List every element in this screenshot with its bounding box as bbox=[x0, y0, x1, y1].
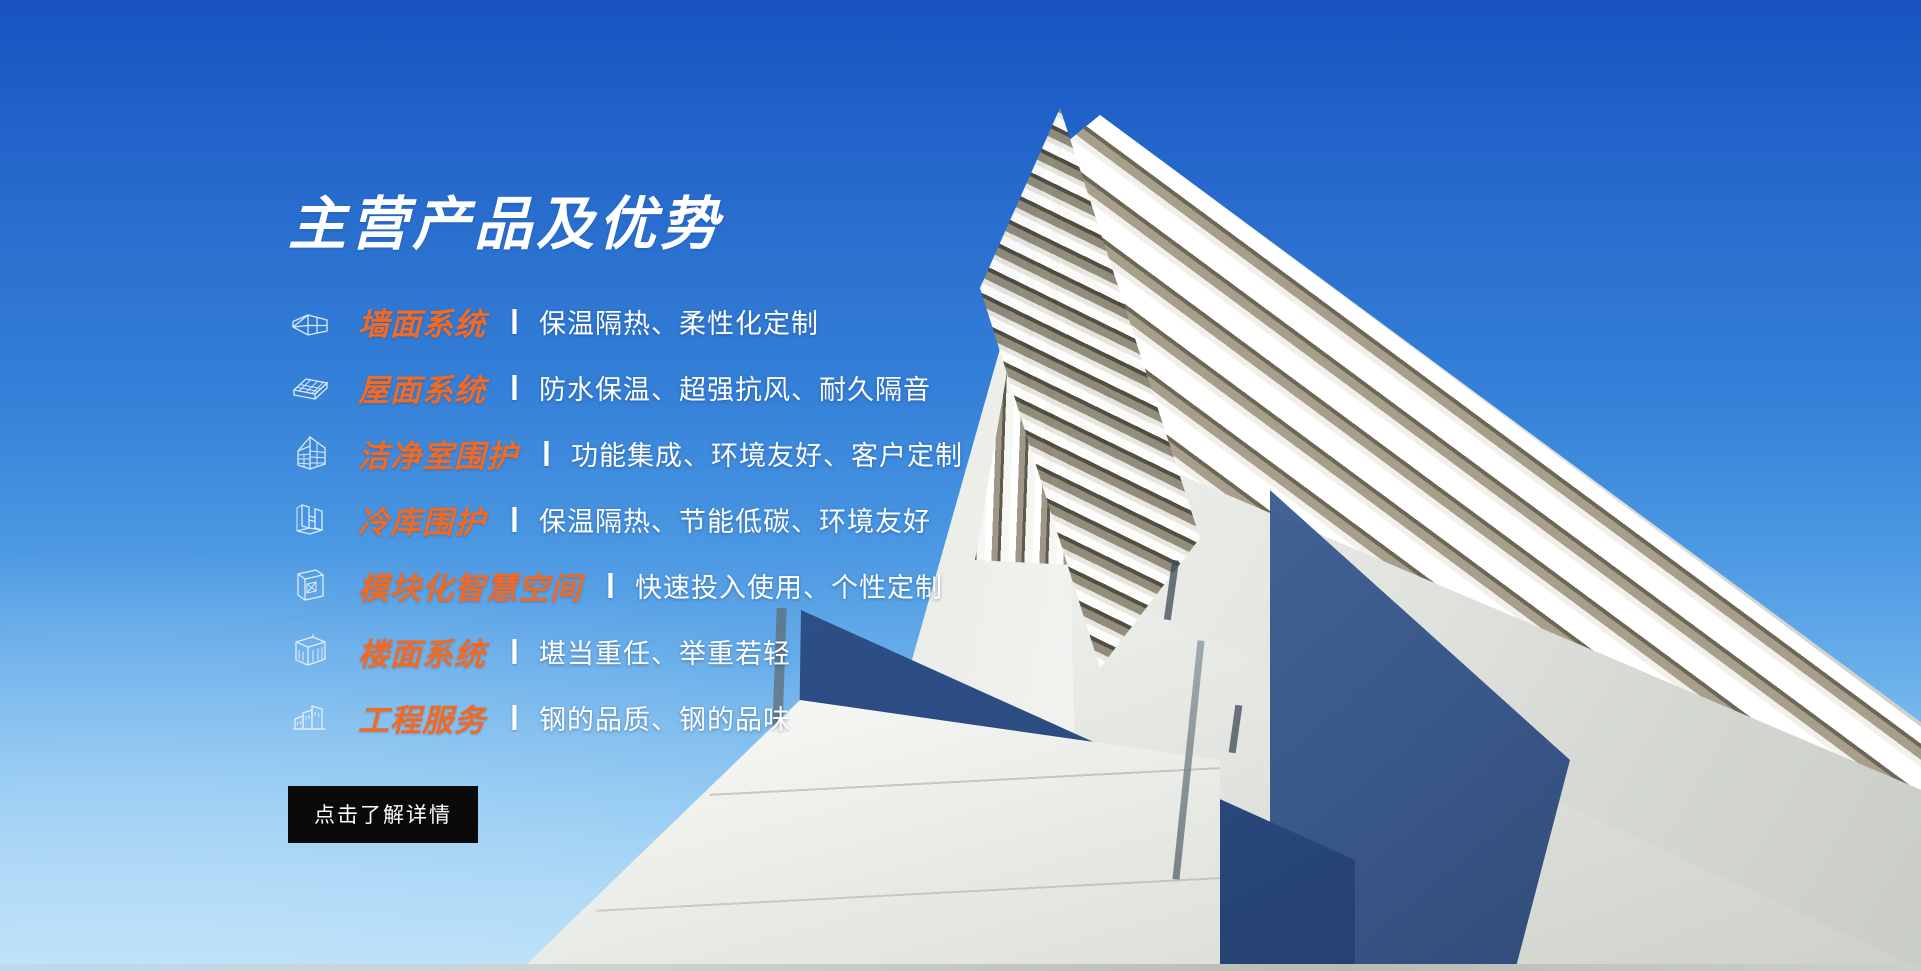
learn-more-button[interactable]: 点击了解详情 bbox=[288, 786, 478, 843]
feature-separator: ❙ bbox=[536, 437, 557, 467]
feature-separator: ❙ bbox=[600, 569, 621, 599]
hero-banner: 主营产品及优势 墙面系统 ❙ 保温隔热、柔性化定制 bbox=[0, 0, 1921, 971]
feature-description: 保温隔热、柔性化定制 bbox=[539, 302, 819, 341]
wall-panel-icon bbox=[288, 299, 332, 343]
feature-title: 楼面系统 bbox=[358, 629, 486, 674]
feature-description: 功能集成、环境友好、客户定制 bbox=[571, 434, 963, 473]
feature-item-wall-system[interactable]: 墙面系统 ❙ 保温隔热、柔性化定制 bbox=[288, 288, 1188, 354]
feature-title: 屋面系统 bbox=[358, 365, 486, 410]
feature-description: 堪当重任、举重若轻 bbox=[539, 632, 791, 671]
modular-cube-icon bbox=[288, 563, 332, 607]
engineering-service-icon bbox=[288, 695, 332, 739]
feature-description: 防水保温、超强抗风、耐久隔音 bbox=[539, 368, 931, 407]
feature-title: 工程服务 bbox=[358, 695, 486, 740]
cold-storage-icon bbox=[288, 497, 332, 541]
feature-separator: ❙ bbox=[504, 305, 525, 335]
feature-separator: ❙ bbox=[504, 503, 525, 533]
ground-strip bbox=[0, 964, 1921, 971]
feature-item-roof-system[interactable]: 屋面系统 ❙ 防水保温、超强抗风、耐久隔音 bbox=[288, 354, 1188, 420]
feature-item-cold-storage-enclosure[interactable]: 冷库围护 ❙ 保温隔热、节能低碳、环境友好 bbox=[288, 486, 1188, 552]
feature-separator: ❙ bbox=[504, 701, 525, 731]
feature-item-cleanroom-enclosure[interactable]: 洁净室围护 ❙ 功能集成、环境友好、客户定制 bbox=[288, 420, 1188, 486]
feature-item-engineering-service[interactable]: 工程服务 ❙ 钢的品质、钢的品味 bbox=[288, 684, 1188, 750]
roof-panel-icon bbox=[288, 365, 332, 409]
cleanroom-building-icon bbox=[288, 431, 332, 475]
feature-list: 墙面系统 ❙ 保温隔热、柔性化定制 bbox=[288, 288, 1188, 750]
floor-deck-icon bbox=[288, 629, 332, 673]
feature-item-floor-system[interactable]: 楼面系统 ❙ 堪当重任、举重若轻 bbox=[288, 618, 1188, 684]
feature-title: 冷库围护 bbox=[358, 497, 486, 542]
feature-item-modular-smart-space[interactable]: 模块化智慧空间 ❙ 快速投入使用、个性定制 bbox=[288, 552, 1188, 618]
feature-separator: ❙ bbox=[504, 635, 525, 665]
feature-separator: ❙ bbox=[504, 371, 525, 401]
hero-content: 主营产品及优势 墙面系统 ❙ 保温隔热、柔性化定制 bbox=[288, 196, 1188, 843]
page-title: 主营产品及优势 bbox=[288, 196, 1188, 254]
feature-title: 模块化智慧空间 bbox=[358, 563, 582, 608]
feature-description: 快速投入使用、个性定制 bbox=[635, 566, 943, 605]
feature-title: 墙面系统 bbox=[358, 299, 486, 344]
feature-description: 钢的品质、钢的品味 bbox=[539, 698, 791, 737]
feature-description: 保温隔热、节能低碳、环境友好 bbox=[539, 500, 931, 539]
feature-title: 洁净室围护 bbox=[358, 431, 518, 476]
